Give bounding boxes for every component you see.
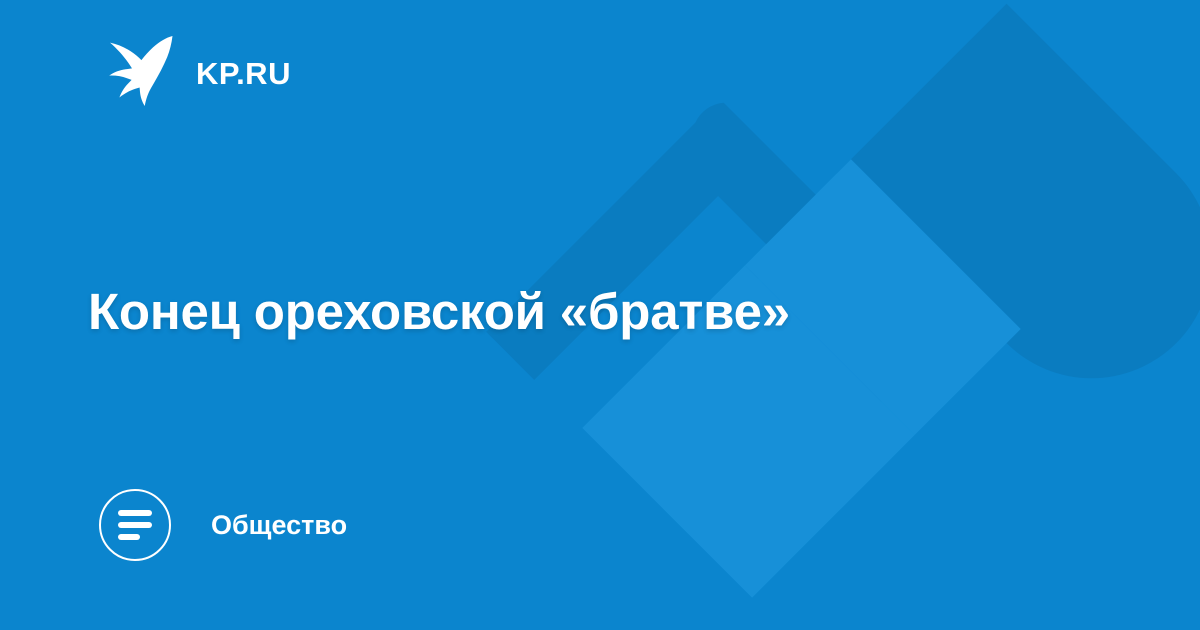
list-line-3	[118, 534, 140, 540]
category-footer[interactable]: Общество	[99, 489, 347, 561]
brand-header[interactable]: KP.RU	[108, 34, 291, 106]
category-label: Общество	[211, 512, 347, 539]
list-lines-icon[interactable]	[99, 489, 171, 561]
page-title: Конец ореховской «братве»	[88, 282, 968, 342]
list-line-2	[118, 522, 152, 528]
share-card: KP.RU Конец ореховской «братве» Общество	[0, 0, 1200, 630]
list-line-1	[118, 510, 152, 516]
brand-name: KP.RU	[196, 58, 291, 89]
pencil-clip-shape	[454, 97, 816, 459]
pencil-tip-shape	[307, 569, 611, 630]
swallow-bird-icon	[108, 34, 174, 106]
pencil-eraser-shape	[837, 4, 1200, 428]
